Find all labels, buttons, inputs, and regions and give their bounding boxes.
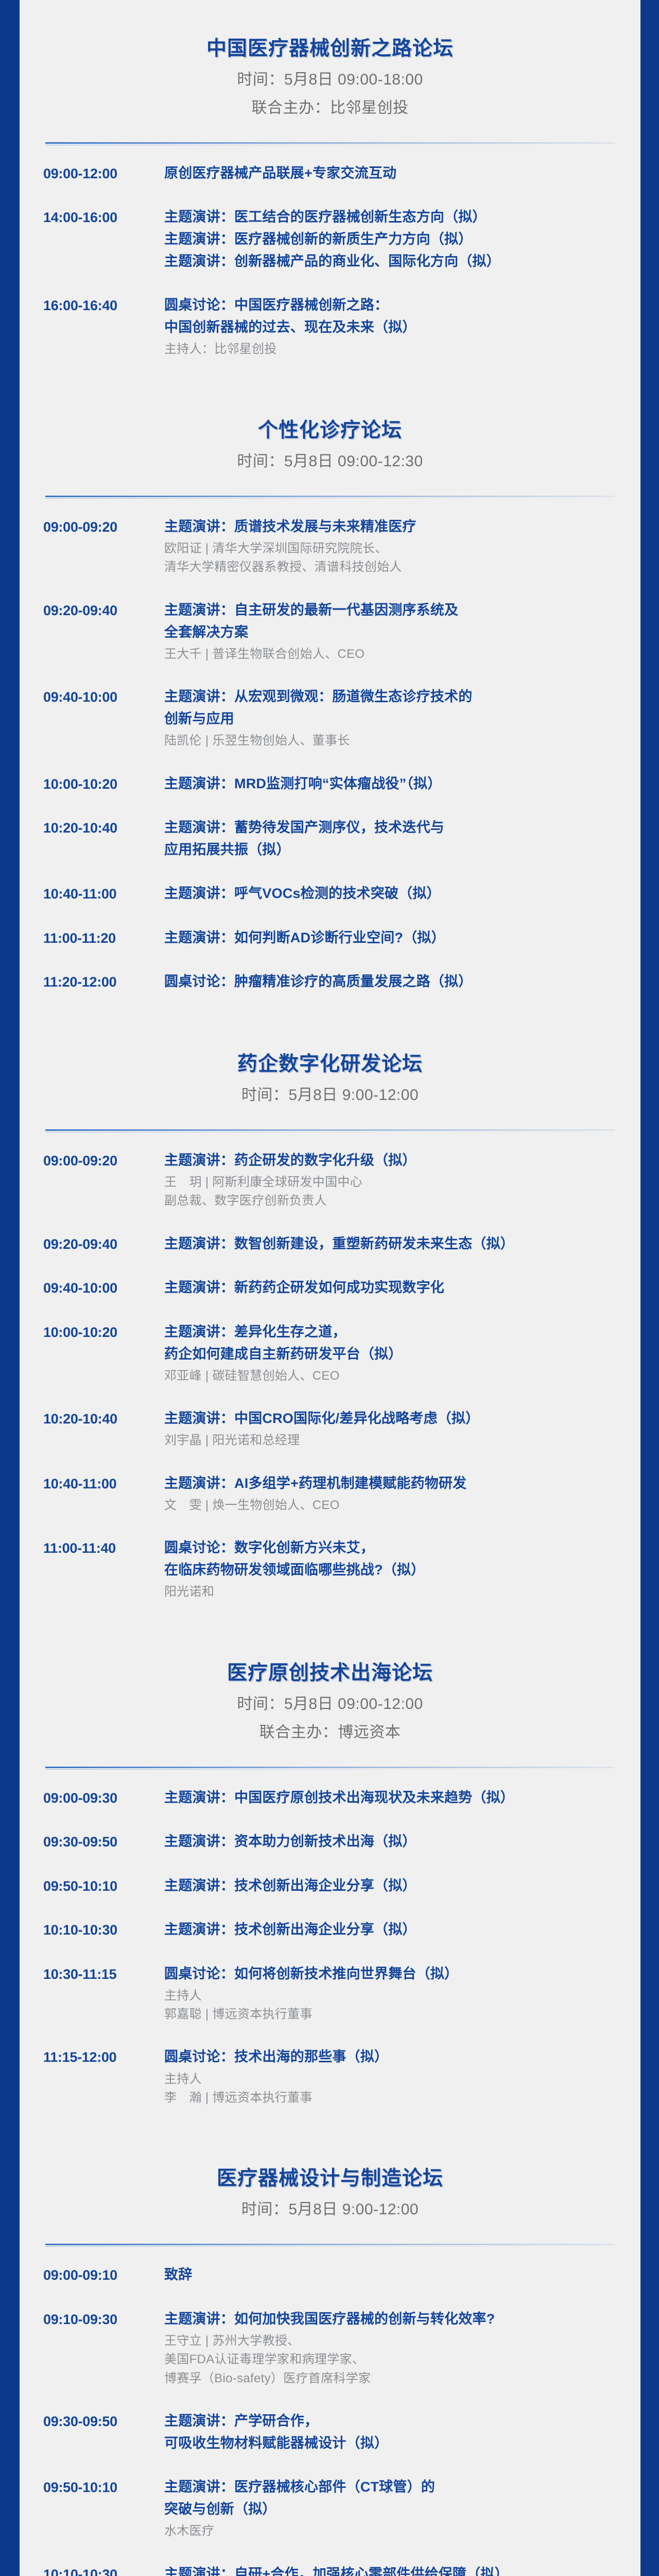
agenda-topic: 致辞 xyxy=(164,2264,620,2285)
agenda-speaker: 博赛孚（Bio-safety）医疗首席科学家 xyxy=(164,2369,620,2388)
agenda-time: 10:00-10:20 xyxy=(40,773,164,795)
agenda-row: 10:20-10:40主题演讲：蓄势待发国产测序仪，技术迭代与应用拓展共振（拟） xyxy=(40,817,620,860)
agenda-row: 14:00-16:00主题演讲：医工结合的医疗器械创新生态方向（拟）主题演讲：医… xyxy=(40,207,620,272)
agenda-topic: 主题演讲：自主研发的最新一代基因测序系统及 xyxy=(164,600,620,621)
agenda-time: 09:40-10:00 xyxy=(40,1277,164,1299)
agenda-row: 11:00-11:40圆桌讨论：数字化创新方兴未艾，在临床药物研发领域面临哪些挑… xyxy=(40,1537,620,1602)
agenda-row: 09:30-09:50主题演讲：产学研合作，可吸收生物材料赋能器械设计（拟） xyxy=(40,2411,620,2454)
agenda-body: 主题演讲：产学研合作，可吸收生物材料赋能器械设计（拟） xyxy=(164,2411,620,2454)
agenda-topic: 主题演讲：资本助力创新技术出海（拟） xyxy=(164,1831,620,1852)
agenda-body: 圆桌讨论：如何将创新技术推向世界舞台（拟）主持人郭嘉聪 | 博远资本执行董事 xyxy=(164,1963,620,2024)
agenda-row: 10:00-10:20主题演讲：差异化生存之道，药企如何建成自主新药研发平台（拟… xyxy=(40,1321,620,1386)
agenda-row: 10:20-10:40主题演讲：中国CRO国际化/差异化战略考虑（拟）刘宇晶 |… xyxy=(40,1408,620,1450)
agenda-body: 主题演讲：AI多组学+药理机制建模赋能药物研发文 雯 | 焕一生物创始人、CEO xyxy=(164,1473,620,1515)
agenda-sheet: 中国医疗器械创新之路论坛时间：5月8日 09:00-18:00联合主办：比邻星创… xyxy=(20,0,640,2576)
agenda-time: 09:30-09:50 xyxy=(40,1831,164,1853)
agenda-time: 11:15-12:00 xyxy=(40,2046,164,2068)
forum-section: 医疗原创技术出海论坛时间：5月8日 09:00-12:00联合主办：博远资本09… xyxy=(40,1624,620,2108)
conference-agenda-poster: 中国医疗器械创新之路论坛时间：5月8日 09:00-18:00联合主办：比邻星创… xyxy=(0,0,659,2576)
forum-time: 时间：5月8日 09:00-12:30 xyxy=(40,450,620,473)
forum-cohost: 联合主办：比邻星创投 xyxy=(40,96,620,120)
agenda-topic: 药企如何建成自主新药研发平台（拟） xyxy=(164,1344,620,1365)
agenda-time: 10:20-10:40 xyxy=(40,1408,164,1430)
agenda-speaker: 主持人 xyxy=(164,2070,620,2089)
agenda-topic: 主题演讲：中国医疗原创技术出海现状及未来趋势（拟） xyxy=(164,1787,620,1808)
agenda-body: 主题演讲：呼气VOCs检测的技术突破（拟） xyxy=(164,883,620,904)
agenda-time: 09:00-12:00 xyxy=(40,163,164,184)
agenda-body: 主题演讲：从宏观到微观：肠道微生态诊疗技术的创新与应用陆凯伦 | 乐翌生物创始人… xyxy=(164,686,620,751)
agenda-body: 主题演讲：技术创新出海企业分享（拟） xyxy=(164,1919,620,1940)
agenda-row: 09:30-09:50主题演讲：资本助力创新技术出海（拟） xyxy=(40,1831,620,1853)
agenda-row: 10:30-11:15圆桌讨论：如何将创新技术推向世界舞台（拟）主持人郭嘉聪 |… xyxy=(40,1963,620,2024)
agenda-time: 09:00-09:10 xyxy=(40,2264,164,2286)
agenda-row: 11:20-12:00圆桌讨论：肿瘤精准诊疗的高质量发展之路（拟） xyxy=(40,971,620,993)
section-divider xyxy=(45,2244,615,2245)
agenda-topic: 主题演讲：自研+合作，加强核心零部件供给保障（拟） xyxy=(164,2564,620,2576)
agenda-row: 09:10-09:30主题演讲：如何加快我国医疗器械的创新与转化效率?王守立 |… xyxy=(40,2309,620,2388)
agenda-topic: 主题演讲：医工结合的医疗器械创新生态方向（拟） xyxy=(164,207,620,228)
agenda-speaker: 陆凯伦 | 乐翌生物创始人、董事长 xyxy=(164,732,620,750)
section-divider xyxy=(45,1129,615,1131)
agenda-body: 圆桌讨论：肿瘤精准诊疗的高质量发展之路（拟） xyxy=(164,971,620,992)
agenda-topic: 主题演讲：新药药企研发如何成功实现数字化 xyxy=(164,1277,620,1298)
agenda-speaker: 清华大学精密仪器系教授、清谱科技创始人 xyxy=(164,558,620,577)
agenda-speaker: 阳光诺和 xyxy=(164,1583,620,1601)
agenda-row: 10:40-11:00主题演讲：呼气VOCs检测的技术突破（拟） xyxy=(40,883,620,905)
agenda-time: 09:30-09:50 xyxy=(40,2411,164,2432)
agenda-speaker: 王大千 | 普译生物联合创始人、CEO xyxy=(164,645,620,664)
agenda-topic: 全套解决方案 xyxy=(164,622,620,643)
agenda-speaker: 邓亚峰 | 碳硅智慧创始人、CEO xyxy=(164,1367,620,1385)
agenda-list: 09:00-12:00原创医疗器械产品联展+专家交流互动14:00-16:00主… xyxy=(40,145,620,359)
agenda-time: 10:30-11:15 xyxy=(40,1963,164,1985)
agenda-time: 09:00-09:30 xyxy=(40,1787,164,1809)
agenda-topic: 主题演讲：如何判断AD诊断行业空间?（拟） xyxy=(164,927,620,948)
agenda-row: 09:00-09:10致辞 xyxy=(40,2264,620,2286)
agenda-row: 11:00-11:20主题演讲：如何判断AD诊断行业空间?（拟） xyxy=(40,927,620,949)
agenda-time: 10:00-10:20 xyxy=(40,1321,164,1343)
agenda-topic: 主题演讲：从宏观到微观：肠道微生态诊疗技术的 xyxy=(164,686,620,707)
agenda-body: 原创医疗器械产品联展+专家交流互动 xyxy=(164,163,620,184)
agenda-row: 10:10-10:30主题演讲：技术创新出海企业分享（拟） xyxy=(40,1919,620,1941)
agenda-topic: 主题演讲：蓄势待发国产测序仪，技术迭代与 xyxy=(164,817,620,838)
agenda-topic: 突破与创新（拟） xyxy=(164,2499,620,2520)
agenda-body: 主题演讲：资本助力创新技术出海（拟） xyxy=(164,1831,620,1852)
agenda-row: 10:00-10:20主题演讲：MRD监测打响“实体瘤战役”（拟） xyxy=(40,773,620,795)
agenda-row: 10:40-11:00主题演讲：AI多组学+药理机制建模赋能药物研发文 雯 | … xyxy=(40,1473,620,1515)
agenda-time: 09:20-09:40 xyxy=(40,1233,164,1255)
agenda-topic: 圆桌讨论：肿瘤精准诊疗的高质量发展之路（拟） xyxy=(164,971,620,992)
agenda-time: 09:00-09:20 xyxy=(40,1150,164,1172)
agenda-row: 09:40-10:00主题演讲：新药药企研发如何成功实现数字化 xyxy=(40,1277,620,1299)
agenda-speaker: 郭嘉聪 | 博远资本执行董事 xyxy=(164,2005,620,2024)
agenda-topic: 主题演讲：技术创新出海企业分享（拟） xyxy=(164,1919,620,1940)
forum-header: 医疗器械设计与制造论坛时间：5月8日 9:00-12:00 xyxy=(40,2133,620,2221)
forum-section: 医疗器械设计与制造论坛时间：5月8日 9:00-12:0009:00-09:10… xyxy=(40,2130,620,2576)
agenda-time: 16:00-16:40 xyxy=(40,295,164,316)
agenda-body: 主题演讲：医疗器械核心部件（CT球管）的突破与创新（拟）水木医疗 xyxy=(164,2477,620,2541)
agenda-time: 09:50-10:10 xyxy=(40,1875,164,1897)
forum-section: 个性化诊疗论坛时间：5月8日 09:00-12:3009:00-09:20主题演… xyxy=(40,382,620,993)
agenda-row: 09:20-09:40主题演讲：自主研发的最新一代基因测序系统及全套解决方案王大… xyxy=(40,600,620,664)
agenda-topic: 主题演讲：如何加快我国医疗器械的创新与转化效率? xyxy=(164,2309,620,2330)
agenda-topic: 在临床药物研发领域面临哪些挑战?（拟） xyxy=(164,1560,620,1581)
agenda-body: 主题演讲：医工结合的医疗器械创新生态方向（拟）主题演讲：医疗器械创新的新质生产力… xyxy=(164,207,620,272)
agenda-speaker: 李 瀚 | 博远资本执行董事 xyxy=(164,2089,620,2107)
agenda-topic: 主题演讲：质谱技术发展与未来精准医疗 xyxy=(164,516,620,537)
agenda-speaker: 美国FDA认证毒理学家和病理学家、 xyxy=(164,2350,620,2369)
forum-header: 中国医疗器械创新之路论坛时间：5月8日 09:00-18:00联合主办：比邻星创… xyxy=(40,3,620,120)
agenda-topic: 圆桌讨论：数字化创新方兴未艾， xyxy=(164,1537,620,1558)
agenda-time: 10:10-10:30 xyxy=(40,2564,164,2576)
agenda-row: 09:00-09:20主题演讲：药企研发的数字化升级（拟）王 玥 | 阿斯利康全… xyxy=(40,1150,620,1211)
section-divider xyxy=(45,496,615,497)
agenda-time: 11:00-11:40 xyxy=(40,1537,164,1559)
forum-header: 医疗原创技术出海论坛时间：5月8日 09:00-12:00联合主办：博远资本 xyxy=(40,1628,620,1744)
forum-title: 药企数字化研发论坛 xyxy=(40,1019,620,1078)
agenda-time: 11:00-11:20 xyxy=(40,927,164,949)
agenda-topic: 主题演讲：技术创新出海企业分享（拟） xyxy=(164,1875,620,1896)
forum-time: 时间：5月8日 9:00-12:00 xyxy=(40,1083,620,1107)
forum-time: 时间：5月8日 09:00-12:00 xyxy=(40,1692,620,1716)
section-divider xyxy=(45,142,615,144)
agenda-body: 主题演讲：自主研发的最新一代基因测序系统及全套解决方案王大千 | 普译生物联合创… xyxy=(164,600,620,664)
agenda-topic: 主题演讲：医疗器械创新的新质生产力方向（拟） xyxy=(164,229,620,250)
agenda-topic: 主题演讲：MRD监测打响“实体瘤战役”（拟） xyxy=(164,773,620,794)
agenda-time: 10:20-10:40 xyxy=(40,817,164,839)
agenda-body: 圆桌讨论：技术出海的那些事（拟）主持人李 瀚 | 博远资本执行董事 xyxy=(164,2046,620,2107)
agenda-row: 09:00-12:00原创医疗器械产品联展+专家交流互动 xyxy=(40,163,620,184)
agenda-speaker: 副总裁、数字医疗创新负责人 xyxy=(164,1192,620,1210)
agenda-row: 09:20-09:40主题演讲：数智创新建设，重塑新药研发未来生态（拟） xyxy=(40,1233,620,1255)
agenda-body: 主题演讲：中国CRO国际化/差异化战略考虑（拟）刘宇晶 | 阳光诺和总经理 xyxy=(164,1408,620,1450)
agenda-body: 主题演讲：技术创新出海企业分享（拟） xyxy=(164,1875,620,1896)
agenda-topic: 创新与应用 xyxy=(164,708,620,730)
agenda-speaker: 主持人 xyxy=(164,1987,620,2005)
forum-list: 中国医疗器械创新之路论坛时间：5月8日 09:00-18:00联合主办：比邻星创… xyxy=(40,0,620,2576)
agenda-body: 主题演讲：MRD监测打响“实体瘤战役”（拟） xyxy=(164,773,620,794)
agenda-body: 主题演讲：质谱技术发展与未来精准医疗欧阳证 | 清华大学深圳国际研究院院长、清华… xyxy=(164,516,620,577)
forum-section: 中国医疗器械创新之路论坛时间：5月8日 09:00-18:00联合主办：比邻星创… xyxy=(40,0,620,359)
agenda-topic: 圆桌讨论：技术出海的那些事（拟） xyxy=(164,2046,620,2067)
section-divider xyxy=(45,1767,615,1768)
agenda-body: 圆桌讨论：中国医疗器械创新之路：中国创新器械的过去、现在及未来（拟）主持人：比邻… xyxy=(164,295,620,359)
agenda-body: 主题演讲：新药药企研发如何成功实现数字化 xyxy=(164,1277,620,1298)
agenda-row: 10:10-10:30主题演讲：自研+合作，加强核心零部件供给保障（拟）唐志宏 … xyxy=(40,2564,620,2576)
agenda-time: 09:20-09:40 xyxy=(40,600,164,621)
agenda-speaker: 王 玥 | 阿斯利康全球研发中国中心 xyxy=(164,1173,620,1192)
agenda-body: 致辞 xyxy=(164,2264,620,2285)
forum-title: 中国医疗器械创新之路论坛 xyxy=(40,3,620,63)
agenda-body: 圆桌讨论：数字化创新方兴未艾，在临床药物研发领域面临哪些挑战?（拟）阳光诺和 xyxy=(164,1537,620,1602)
agenda-topic: 主题演讲：中国CRO国际化/差异化战略考虑（拟） xyxy=(164,1408,620,1429)
agenda-row: 09:40-10:00主题演讲：从宏观到微观：肠道微生态诊疗技术的创新与应用陆凯… xyxy=(40,686,620,751)
forum-section: 药企数字化研发论坛时间：5月8日 9:00-12:0009:00-09:20主题… xyxy=(40,1015,620,1602)
agenda-speaker: 主持人：比邻星创投 xyxy=(164,340,620,359)
agenda-topic: 中国创新器械的过去、现在及未来（拟） xyxy=(164,317,620,338)
agenda-body: 主题演讲：如何加快我国医疗器械的创新与转化效率?王守立 | 苏州大学教授、美国F… xyxy=(164,2309,620,2388)
agenda-time: 09:10-09:30 xyxy=(40,2309,164,2330)
agenda-topic: 主题演讲：数智创新建设，重塑新药研发未来生态（拟） xyxy=(164,1233,620,1255)
agenda-topic: 可吸收生物材料赋能器械设计（拟） xyxy=(164,2433,620,2454)
agenda-topic: 应用拓展共振（拟） xyxy=(164,839,620,860)
agenda-topic: 原创医疗器械产品联展+专家交流互动 xyxy=(164,163,620,184)
agenda-row: 16:00-16:40圆桌讨论：中国医疗器械创新之路：中国创新器械的过去、现在及… xyxy=(40,295,620,359)
agenda-row: 09:00-09:20主题演讲：质谱技术发展与未来精准医疗欧阳证 | 清华大学深… xyxy=(40,516,620,577)
agenda-topic: 圆桌讨论：如何将创新技术推向世界舞台（拟） xyxy=(164,1963,620,1985)
agenda-list: 09:00-09:20主题演讲：药企研发的数字化升级（拟）王 玥 | 阿斯利康全… xyxy=(40,1132,620,1602)
agenda-speaker: 欧阳证 | 清华大学深圳国际研究院院长、 xyxy=(164,539,620,558)
agenda-body: 主题演讲：如何判断AD诊断行业空间?（拟） xyxy=(164,927,620,948)
agenda-topic: 主题演讲：差异化生存之道， xyxy=(164,1321,620,1343)
forum-header: 药企数字化研发论坛时间：5月8日 9:00-12:00 xyxy=(40,1019,620,1107)
agenda-topic: 主题演讲：药企研发的数字化升级（拟） xyxy=(164,1150,620,1171)
agenda-topic: 主题演讲：呼气VOCs检测的技术突破（拟） xyxy=(164,883,620,904)
agenda-row: 09:50-10:10主题演讲：医疗器械核心部件（CT球管）的突破与创新（拟）水… xyxy=(40,2477,620,2541)
agenda-topic: 主题演讲：医疗器械核心部件（CT球管）的 xyxy=(164,2477,620,2498)
agenda-row: 11:15-12:00圆桌讨论：技术出海的那些事（拟）主持人李 瀚 | 博远资本… xyxy=(40,2046,620,2107)
agenda-speaker: 文 雯 | 焕一生物创始人、CEO xyxy=(164,1496,620,1515)
agenda-topic: 主题演讲：产学研合作， xyxy=(164,2411,620,2432)
agenda-row: 09:50-10:10主题演讲：技术创新出海企业分享（拟） xyxy=(40,1875,620,1897)
forum-time: 时间：5月8日 9:00-12:00 xyxy=(40,2198,620,2221)
agenda-time: 10:10-10:30 xyxy=(40,1919,164,1941)
agenda-body: 主题演讲：自研+合作，加强核心零部件供给保障（拟）唐志宏 | 科罗诺司创始人 xyxy=(164,2564,620,2576)
agenda-row: 09:00-09:30主题演讲：中国医疗原创技术出海现状及未来趋势（拟） xyxy=(40,1787,620,1809)
agenda-list: 09:00-09:20主题演讲：质谱技术发展与未来精准医疗欧阳证 | 清华大学深… xyxy=(40,499,620,993)
agenda-time: 09:50-10:10 xyxy=(40,2477,164,2498)
agenda-time: 09:00-09:20 xyxy=(40,516,164,538)
forum-title: 个性化诊疗论坛 xyxy=(40,385,620,445)
forum-title: 医疗器械设计与制造论坛 xyxy=(40,2133,620,2193)
forum-cohost: 联合主办：博远资本 xyxy=(40,1721,620,1744)
agenda-speaker: 王守立 | 苏州大学教授、 xyxy=(164,2332,620,2350)
agenda-list: 09:00-09:30主题演讲：中国医疗原创技术出海现状及未来趋势（拟）09:3… xyxy=(40,1770,620,2108)
forum-title: 医疗原创技术出海论坛 xyxy=(40,1628,620,1687)
agenda-speaker: 水木医疗 xyxy=(164,2522,620,2540)
agenda-time: 09:40-10:00 xyxy=(40,686,164,708)
agenda-body: 主题演讲：差异化生存之道，药企如何建成自主新药研发平台（拟）邓亚峰 | 碳硅智慧… xyxy=(164,1321,620,1386)
agenda-speaker: 刘宇晶 | 阳光诺和总经理 xyxy=(164,1431,620,1450)
agenda-topic: 圆桌讨论：中国医疗器械创新之路： xyxy=(164,295,620,316)
agenda-time: 10:40-11:00 xyxy=(40,883,164,905)
agenda-time: 14:00-16:00 xyxy=(40,207,164,228)
agenda-list: 09:00-09:10致辞09:10-09:30主题演讲：如何加快我国医疗器械的… xyxy=(40,2247,620,2576)
agenda-topic: 主题演讲：创新器械产品的商业化、国际化方向（拟） xyxy=(164,251,620,272)
agenda-body: 主题演讲：蓄势待发国产测序仪，技术迭代与应用拓展共振（拟） xyxy=(164,817,620,860)
agenda-time: 10:40-11:00 xyxy=(40,1473,164,1495)
forum-time: 时间：5月8日 09:00-18:00 xyxy=(40,68,620,91)
agenda-body: 主题演讲：中国医疗原创技术出海现状及未来趋势（拟） xyxy=(164,1787,620,1808)
agenda-body: 主题演讲：数智创新建设，重塑新药研发未来生态（拟） xyxy=(164,1233,620,1255)
agenda-time: 11:20-12:00 xyxy=(40,971,164,993)
agenda-topic: 主题演讲：AI多组学+药理机制建模赋能药物研发 xyxy=(164,1473,620,1494)
agenda-body: 主题演讲：药企研发的数字化升级（拟）王 玥 | 阿斯利康全球研发中国中心副总裁、… xyxy=(164,1150,620,1211)
forum-header: 个性化诊疗论坛时间：5月8日 09:00-12:30 xyxy=(40,385,620,473)
